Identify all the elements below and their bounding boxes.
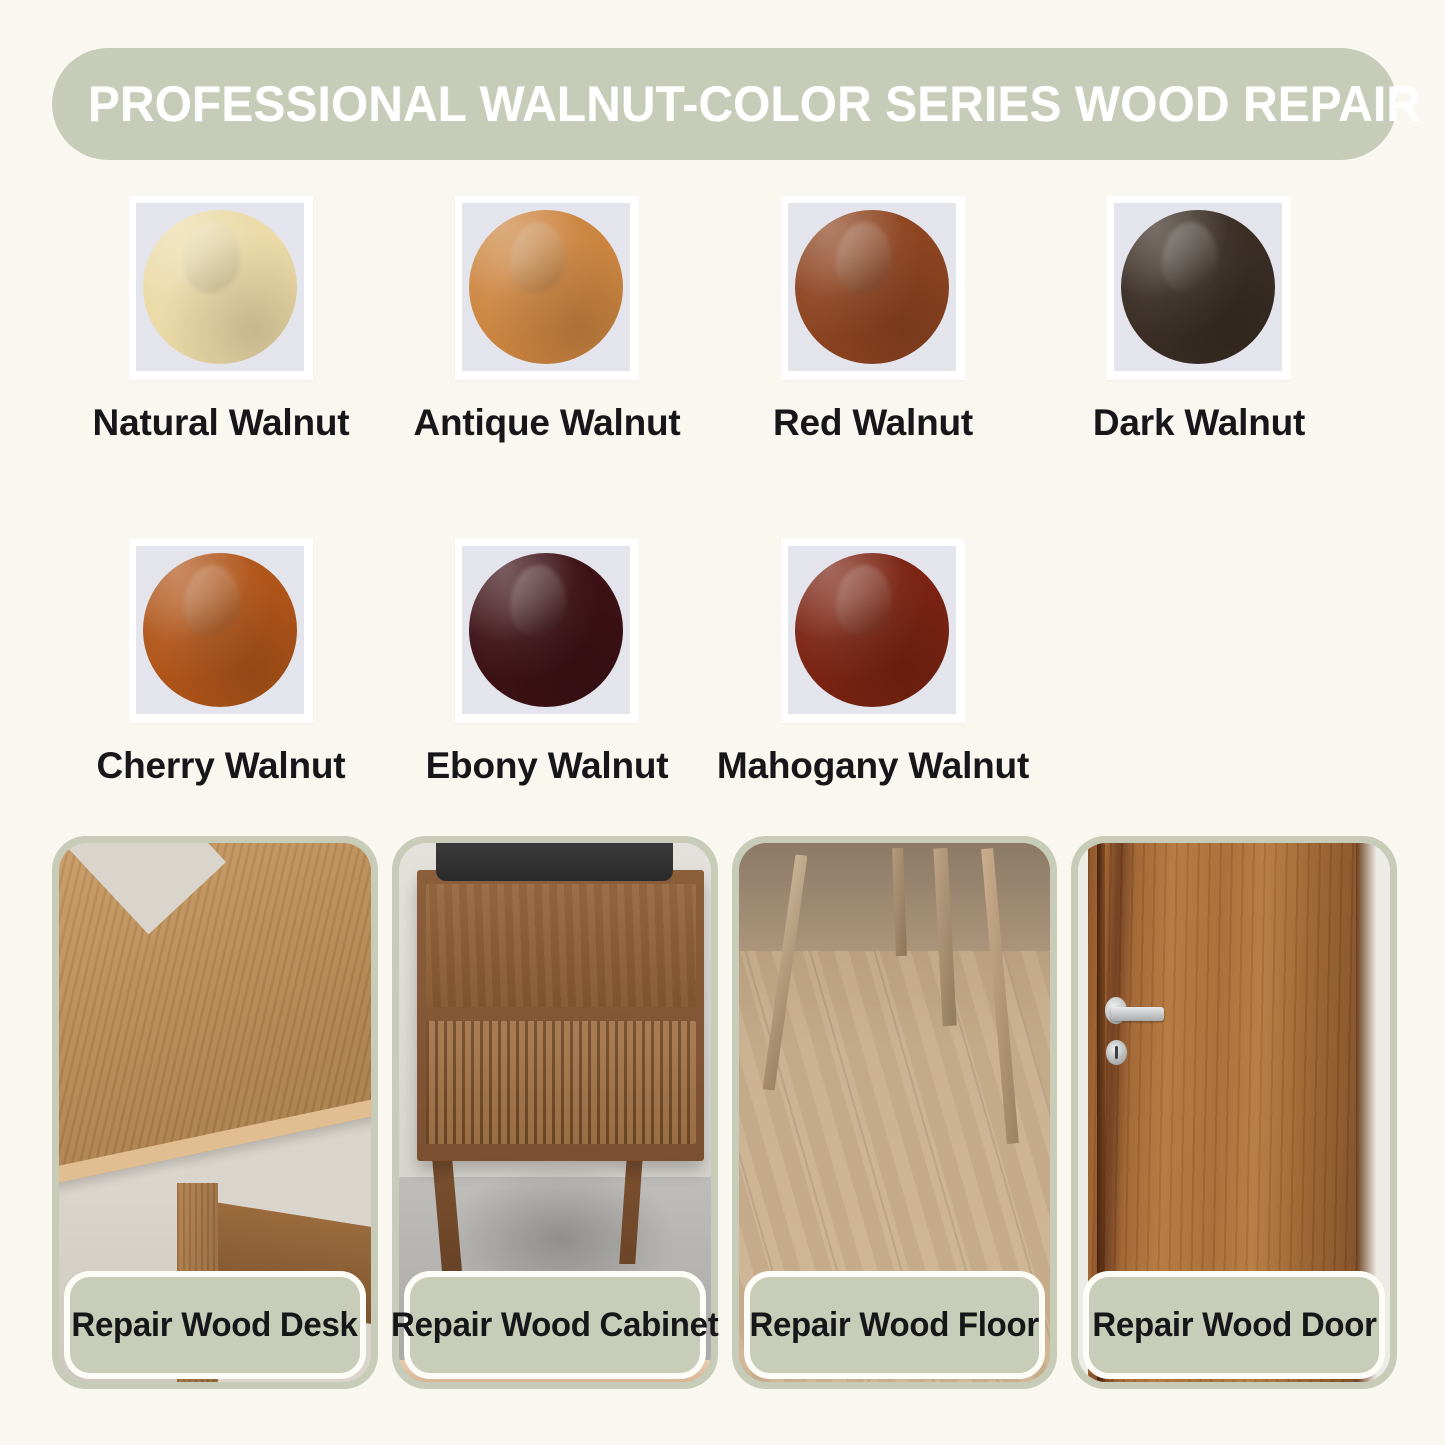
swatch-cherry-walnut[interactable]: Cherry Walnut [58, 539, 384, 787]
card-caption-pill[interactable]: Repair Wood Door [1083, 1271, 1385, 1379]
swatch-inner [1114, 203, 1282, 371]
swatch-tile [781, 196, 965, 380]
swatch-label: Red Walnut [773, 402, 973, 444]
swatch-tile [1107, 196, 1291, 380]
swatch-inner [788, 203, 956, 371]
swatch-tile [455, 196, 639, 380]
desk-tabletop [59, 843, 371, 1187]
card-caption-label: Repair Wood Floor [750, 1306, 1039, 1345]
card-caption-label: Repair Wood Door [1092, 1306, 1376, 1345]
swatch-inner [462, 546, 630, 714]
blob-shading [143, 553, 298, 708]
blob-shading [469, 553, 624, 708]
swatch-red-walnut[interactable]: Red Walnut [710, 196, 1036, 444]
card-caption-label: Repair Wood Cabinet [391, 1306, 718, 1345]
swatch-label: Ebony Walnut [426, 745, 669, 787]
paste-blob-icon [469, 553, 624, 708]
card-caption-pill[interactable]: Repair Wood Desk [64, 1271, 366, 1379]
tabletop-objects [436, 843, 673, 881]
swatch-label: Mahogany Walnut [717, 745, 1029, 787]
paste-blob-icon [143, 210, 298, 365]
card-caption-pill[interactable]: Repair Wood Cabinet [404, 1271, 706, 1379]
swatch-ebony-walnut[interactable]: Ebony Walnut [384, 539, 710, 787]
swatch-inner [136, 203, 304, 371]
blob-shading [143, 210, 298, 365]
cabinet-drawer-bottom [426, 1021, 696, 1143]
card-repair-wood-floor[interactable]: Repair Wood Floor [732, 836, 1058, 1389]
swatch-row-1: Natural Walnut Antique Walnut [0, 196, 1445, 444]
color-swatch-grid: Natural Walnut Antique Walnut [0, 196, 1445, 787]
door-keyhole-icon [1106, 1040, 1126, 1065]
page-title: PROFESSIONAL WALNUT-COLOR SERIES WOOD RE… [88, 79, 1421, 129]
swatch-inner [462, 203, 630, 371]
swatch-tile [781, 539, 965, 723]
swatch-tile [455, 539, 639, 723]
application-cards: Repair Wood Desk Repa [52, 836, 1397, 1389]
paste-blob-icon [1121, 210, 1276, 365]
paste-blob-icon [795, 210, 950, 365]
door-handle-icon [1111, 1007, 1164, 1021]
card-repair-wood-desk[interactable]: Repair Wood Desk [52, 836, 378, 1389]
swatch-tile [129, 196, 313, 380]
swatch-antique-walnut[interactable]: Antique Walnut [384, 196, 710, 444]
swatch-inner [788, 546, 956, 714]
blob-shading [469, 210, 624, 365]
card-caption-pill[interactable]: Repair Wood Floor [744, 1271, 1046, 1379]
card-caption-label: Repair Wood Desk [72, 1306, 358, 1345]
blob-shading [1121, 210, 1276, 365]
swatch-mahogany-walnut[interactable]: Mahogany Walnut [710, 539, 1036, 787]
cabinet-drawer-top [426, 884, 696, 1006]
swatch-label: Cherry Walnut [97, 745, 346, 787]
cabinet-body [417, 870, 704, 1161]
paste-blob-icon [143, 553, 298, 708]
swatch-inner [136, 546, 304, 714]
swatch-dark-walnut[interactable]: Dark Walnut [1036, 196, 1362, 444]
card-repair-wood-door[interactable]: Repair Wood Door [1071, 836, 1397, 1389]
swatch-cell-empty [1036, 539, 1362, 787]
swatch-row-2: Cherry Walnut Ebony Walnut [0, 539, 1445, 787]
swatch-label: Dark Walnut [1093, 402, 1305, 444]
blob-shading [795, 553, 950, 708]
swatch-tile [129, 539, 313, 723]
paste-blob-icon [795, 553, 950, 708]
paste-blob-icon [469, 210, 624, 365]
swatch-natural-walnut[interactable]: Natural Walnut [58, 196, 384, 444]
card-repair-wood-cabinet[interactable]: Repair Wood Cabinet [392, 836, 718, 1389]
product-infographic: PROFESSIONAL WALNUT-COLOR SERIES WOOD RE… [0, 0, 1445, 1445]
swatch-label: Antique Walnut [413, 402, 680, 444]
header-banner: PROFESSIONAL WALNUT-COLOR SERIES WOOD RE… [52, 48, 1397, 160]
swatch-label: Natural Walnut [93, 402, 350, 444]
blob-shading [795, 210, 950, 365]
